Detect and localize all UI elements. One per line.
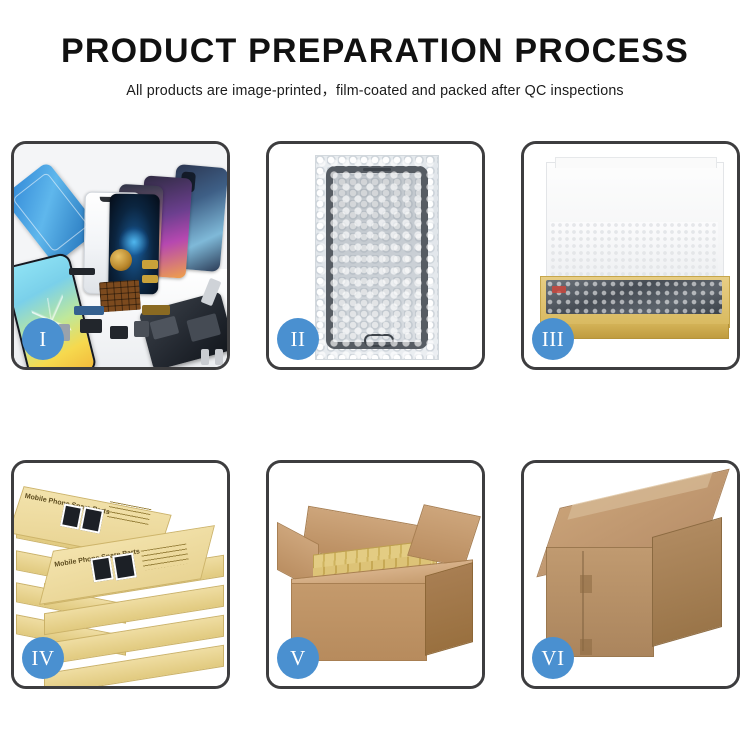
process-step-panel-4[interactable]: Mobile Phone Spare Parts Mobile Phone Sp… (11, 460, 230, 689)
process-step-grid: I II III (11, 141, 739, 689)
carton-seam (582, 551, 584, 651)
carton-side-face (425, 562, 473, 656)
carton-side-face (652, 517, 722, 647)
carton-tab-upper (580, 575, 592, 593)
process-step-panel-1[interactable]: I (11, 141, 230, 370)
bubble-wrap-sheet (315, 155, 439, 360)
process-step-panel-5[interactable]: V (266, 460, 485, 689)
spare-part-gold-contact-1 (142, 260, 158, 269)
spare-part-connector (69, 268, 95, 275)
carton-tab-lower (580, 639, 592, 655)
spare-part-screw-2 (215, 349, 223, 365)
wrapped-screen-in-tray (546, 280, 722, 314)
process-step-panel-2[interactable]: II (266, 141, 485, 370)
step-badge-2: II (277, 318, 319, 360)
spare-part-screw-1 (201, 349, 209, 365)
step-badge-5: V (277, 637, 319, 679)
step-badge-6: VI (532, 637, 574, 679)
product-preparation-infographic: PRODUCT PREPARATION PROCESS All products… (0, 0, 750, 750)
box-thumbnail-front-1 (90, 556, 114, 583)
process-step-panel-6[interactable]: VI (521, 460, 740, 689)
step-badge-1: I (22, 318, 64, 360)
spare-part-flex-cable-blue (74, 306, 104, 315)
step-badge-4: IV (22, 637, 64, 679)
white-foam-padding (550, 222, 718, 278)
header: PRODUCT PREPARATION PROCESS All products… (0, 34, 750, 100)
spare-part-flex-cable-gold (142, 305, 170, 315)
box-thumbnail-front-2 (112, 553, 137, 581)
step-badge-3: III (532, 318, 574, 360)
chip-array (99, 280, 141, 313)
spare-part-module-1 (80, 319, 102, 333)
speaker-coil (110, 249, 132, 271)
spare-part-camera (134, 321, 149, 337)
spare-part-module-2 (110, 326, 128, 339)
bubble-wrap-overlay (316, 156, 438, 359)
page-subtitle: All products are image-printed，film-coat… (0, 79, 750, 100)
page-title: PRODUCT PREPARATION PROCESS (0, 34, 750, 70)
process-step-panel-3[interactable]: III (521, 141, 740, 370)
spare-part-gold-contact-2 (142, 275, 158, 283)
